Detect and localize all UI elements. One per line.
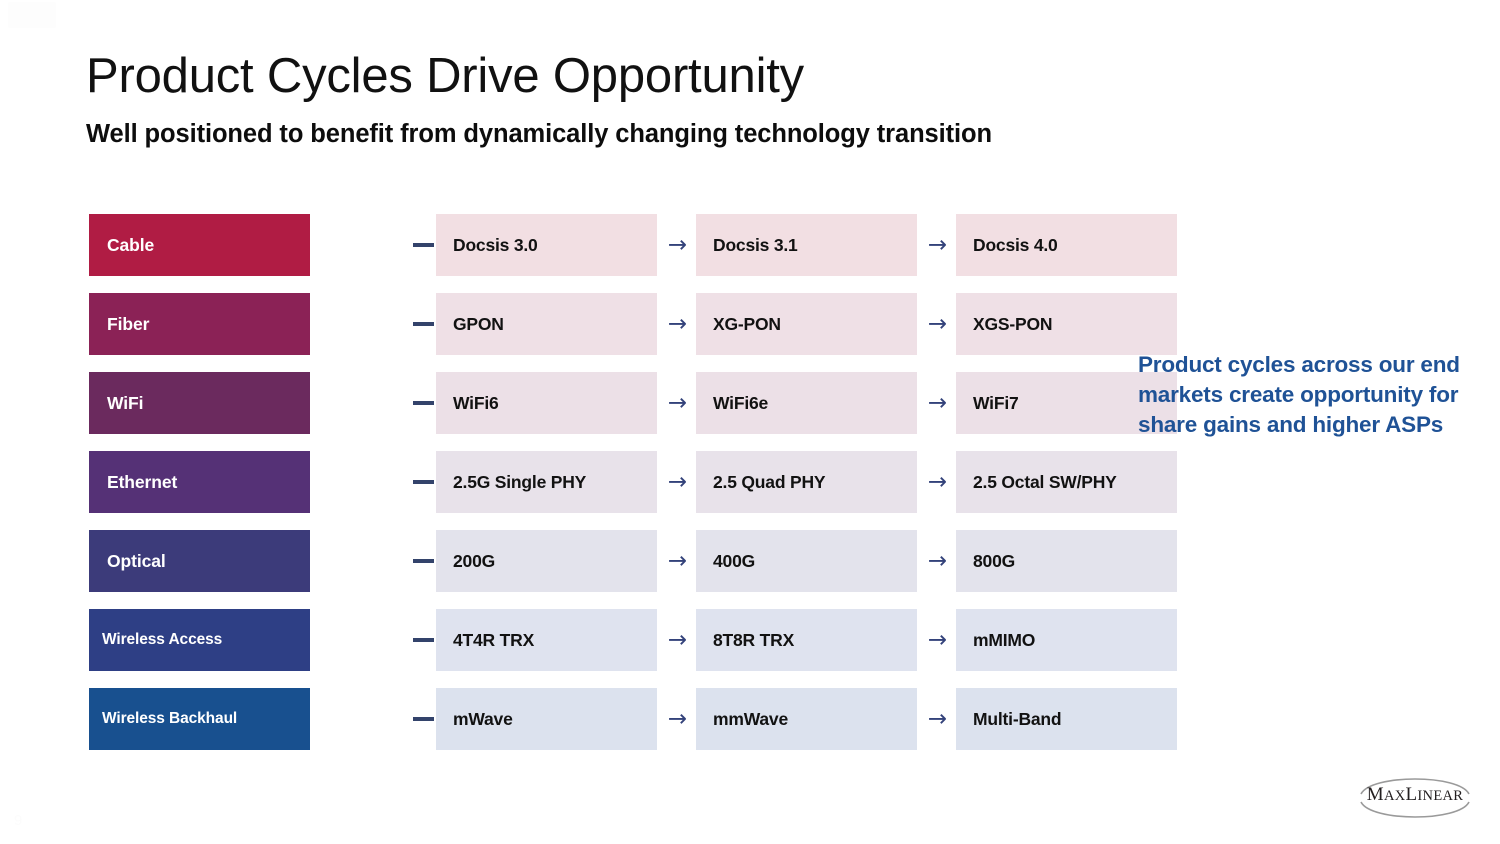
arrow-right-icon: → [918, 688, 957, 750]
row-connector-dash [413, 559, 434, 563]
matrix-row: WiFiWiFi6→WiFi6e→WiFi7 [89, 372, 1089, 434]
page-title: Product Cycles Drive Opportunity [86, 48, 804, 104]
stage-cell[interactable]: XG-PON [696, 293, 917, 355]
matrix-row: CableDocsis 3.0→Docsis 3.1→Docsis 4.0 [89, 214, 1089, 276]
row-label-cable[interactable]: Cable [89, 214, 310, 276]
stage-cell[interactable]: mMIMO [956, 609, 1177, 671]
stage-cell[interactable]: mmWave [696, 688, 917, 750]
arrow-right-icon: → [658, 688, 697, 750]
page-number: 9 [14, 812, 22, 829]
callout-text: Product cycles across our end markets cr… [1138, 350, 1468, 440]
logo-wordmark: MAXLINEAR [1345, 784, 1485, 806]
stage-cell[interactable]: 400G [696, 530, 917, 592]
arrow-right-icon: → [918, 293, 957, 355]
logo-m: M [1367, 784, 1384, 805]
stage-cell[interactable]: 2.5 Quad PHY [696, 451, 917, 513]
row-connector-dash [413, 480, 434, 484]
row-label-fiber[interactable]: Fiber [89, 293, 310, 355]
arrow-right-icon: → [918, 214, 957, 276]
row-label-wifi[interactable]: WiFi [89, 372, 310, 434]
stage-cell[interactable]: Docsis 3.1 [696, 214, 917, 276]
stage-cell[interactable]: mWave [436, 688, 657, 750]
row-connector-dash [413, 401, 434, 405]
slide-canvas: 9 Product Cycles Drive Opportunity Well … [0, 0, 1500, 844]
product-cycle-matrix: CableDocsis 3.0→Docsis 3.1→Docsis 4.0Fib… [89, 214, 1089, 750]
arrow-right-icon: → [658, 530, 697, 592]
stage-cell[interactable]: 2.5G Single PHY [436, 451, 657, 513]
row-connector-dash [413, 638, 434, 642]
arrow-right-icon: → [658, 609, 697, 671]
logo-ax: AX [1384, 788, 1406, 804]
stage-cell[interactable]: 2.5 Octal SW/PHY [956, 451, 1177, 513]
row-label-wireless-access[interactable]: Wireless Access [89, 609, 310, 671]
maxlinear-logo: MAXLINEAR [1345, 768, 1485, 828]
page-subtitle: Well positioned to benefit from dynamica… [86, 120, 992, 149]
stage-cell[interactable]: Multi-Band [956, 688, 1177, 750]
arrow-right-icon: → [918, 372, 957, 434]
stage-cell[interactable]: WiFi6e [696, 372, 917, 434]
row-connector-dash [413, 322, 434, 326]
logo-inear: INEAR [1417, 788, 1463, 804]
arrow-right-icon: → [918, 530, 957, 592]
stage-cell[interactable]: XGS-PON [956, 293, 1177, 355]
arrow-right-icon: → [918, 609, 957, 671]
row-label-optical[interactable]: Optical [89, 530, 310, 592]
matrix-row: FiberGPON→XG-PON→XGS-PON [89, 293, 1089, 355]
stage-cell[interactable]: 4T4R TRX [436, 609, 657, 671]
row-connector-dash [413, 717, 434, 721]
row-connector-dash [413, 243, 434, 247]
logo-l: L [1406, 784, 1418, 805]
arrow-right-icon: → [918, 451, 957, 513]
arrow-right-icon: → [658, 293, 697, 355]
stage-cell[interactable]: GPON [436, 293, 657, 355]
stage-cell[interactable]: 200G [436, 530, 657, 592]
row-label-ethernet[interactable]: Ethernet [89, 451, 310, 513]
corner-artifact [8, 2, 56, 28]
stage-cell[interactable]: 800G [956, 530, 1177, 592]
matrix-row: Optical200G→400G→800G [89, 530, 1089, 592]
arrow-right-icon: → [658, 451, 697, 513]
arrow-right-icon: → [658, 214, 697, 276]
stage-cell[interactable]: Docsis 3.0 [436, 214, 657, 276]
stage-cell[interactable]: 8T8R TRX [696, 609, 917, 671]
row-label-wireless-backhaul[interactable]: Wireless Backhaul [89, 688, 310, 750]
arrow-right-icon: → [658, 372, 697, 434]
stage-cell[interactable]: Docsis 4.0 [956, 214, 1177, 276]
matrix-row: Ethernet2.5G Single PHY→2.5 Quad PHY→2.5… [89, 451, 1089, 513]
matrix-row: Wireless BackhaulmWave→mmWave→Multi-Band [89, 688, 1089, 750]
stage-cell[interactable]: WiFi6 [436, 372, 657, 434]
matrix-row: Wireless Access4T4R TRX→8T8R TRX→mMIMO [89, 609, 1089, 671]
